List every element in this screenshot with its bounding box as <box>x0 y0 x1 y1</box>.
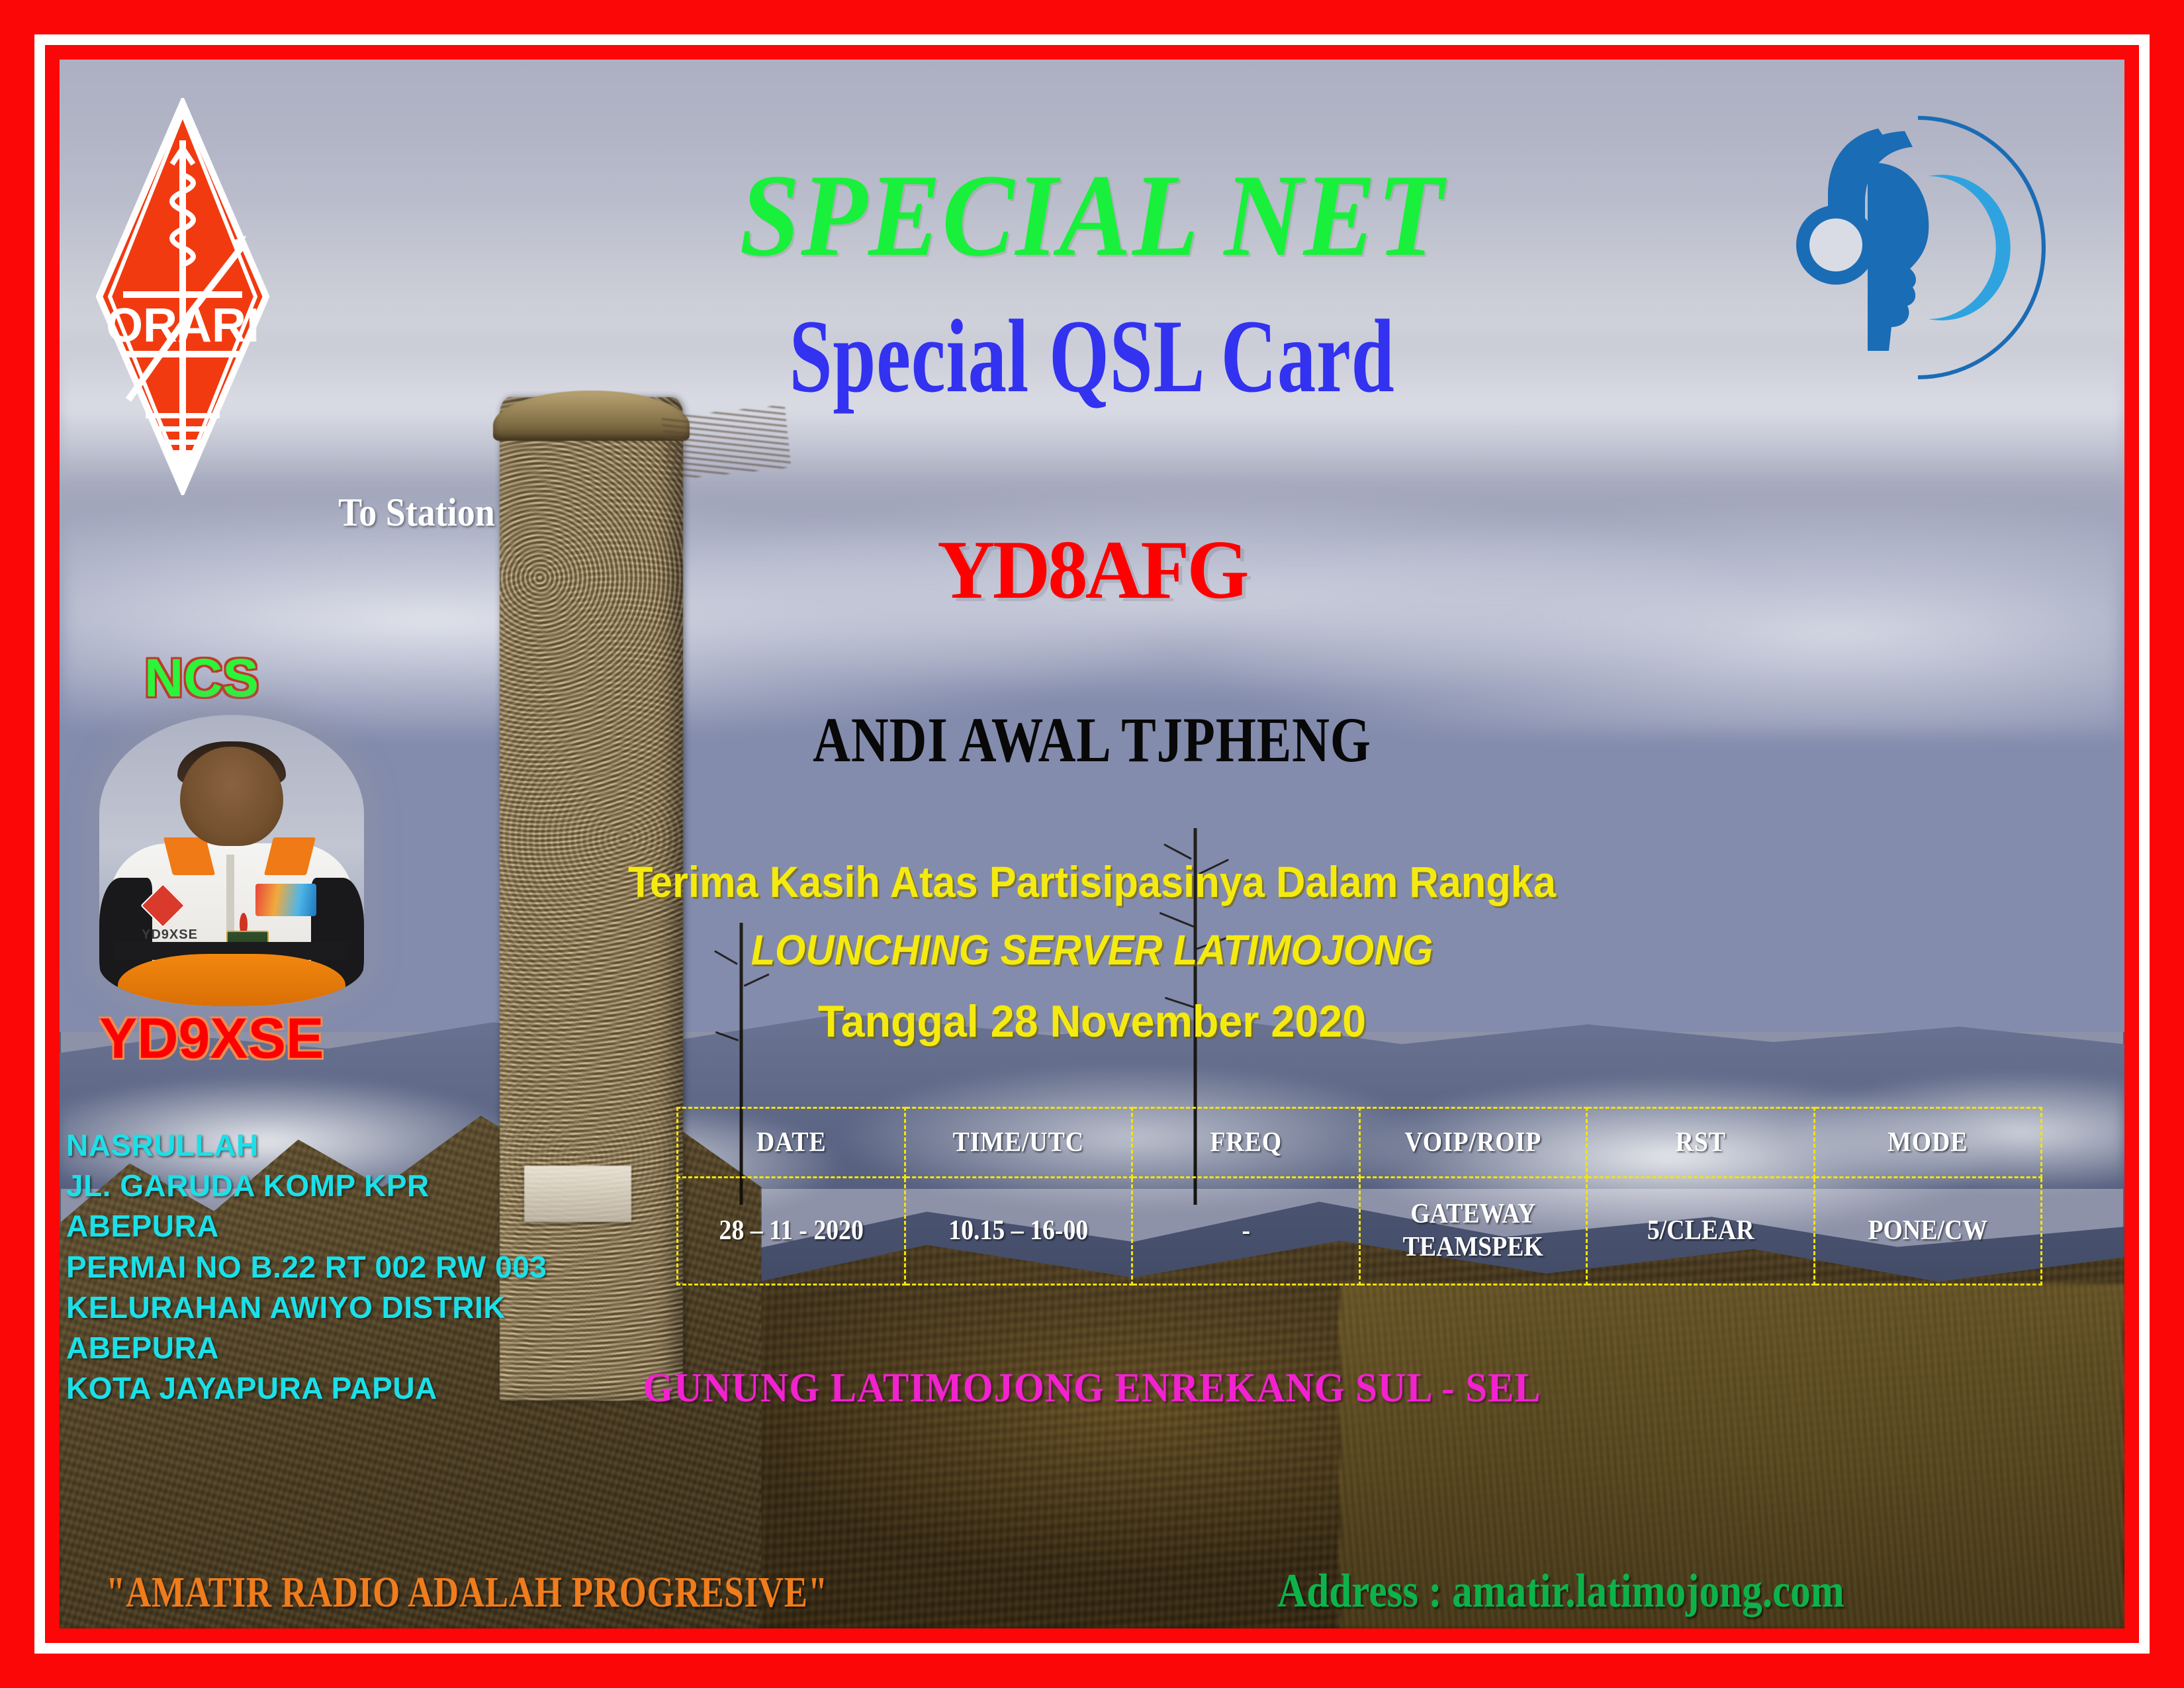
table-header-rst: RST <box>1598 1108 1803 1178</box>
pillar-wisp <box>662 404 792 480</box>
cell-freq: - <box>1144 1178 1348 1285</box>
event-launch-line: LOUNCHING SERVER LATIMOJONG <box>77 925 2108 974</box>
address-line: ABEPURA <box>66 1206 547 1246</box>
cell-voip-roip-line1: GATEWAY <box>1372 1198 1574 1231</box>
cell-voip-roip: GATEWAY TEAMSPEK <box>1371 1178 1575 1285</box>
location-line: GUNUNG LATIMOJONG ENREKANG SUL - SEL <box>55 1365 2130 1412</box>
cell-mode: PONE/CW <box>1825 1178 2030 1285</box>
address-line: JL. GARUDA KOMP KPR <box>66 1166 547 1206</box>
ncs-label: NCS <box>144 647 259 710</box>
page-title-special-net: SPECIAL NET <box>87 156 2097 274</box>
orari-logo-text: ORARI <box>106 299 259 352</box>
event-thanks-line: Terima Kasih Atas Partisipasinya Dalam R… <box>77 857 2108 907</box>
address-line: KELURAHAN AWIYO DISTRIK <box>66 1288 547 1328</box>
table-header-row: DATE TIME/UTC FREQ VOIP/ROIP RST MODE <box>678 1108 2042 1178</box>
station-callsign: YD8AFG <box>44 523 2140 618</box>
cell-voip-roip-line2: TEAMSPEK <box>1372 1231 1574 1264</box>
address-line: ABEPURA <box>66 1328 547 1368</box>
table-header-time-utc: TIME/UTC <box>916 1108 1120 1178</box>
cell-time-utc: 10.15 – 16-00 <box>916 1178 1120 1285</box>
table-header-voip-roip: VOIP/ROIP <box>1371 1108 1575 1178</box>
qso-log-table: DATE TIME/UTC FREQ VOIP/ROIP RST MODE 28… <box>676 1107 2042 1286</box>
address-line: NASRULLAH <box>66 1125 547 1166</box>
footer-address: Address : amatir.latimojong.com <box>1277 1564 1844 1618</box>
cell-rst: 5/CLEAR <box>1598 1178 1803 1285</box>
address-line: PERMAI NO B.22 RT 002 RW 003 <box>66 1247 547 1288</box>
operator-name: ANDI AWAL TJPHENG <box>197 703 1987 776</box>
table-header-date: DATE <box>689 1108 893 1178</box>
event-date-line: Tanggal 28 November 2020 <box>55 996 2130 1047</box>
qsl-card: ORARI SPECIAL NET Special QSL Card To St… <box>0 0 2184 1688</box>
page-subtitle-special-qsl-card: Special QSL Card <box>284 305 1900 409</box>
footer-slogan: "AMATIR RADIO ADALAH PROGRESIVE" <box>106 1568 828 1618</box>
table-header-freq: FREQ <box>1144 1108 1348 1178</box>
table-header-mode: MODE <box>1825 1108 2030 1178</box>
cell-date: 28 – 11 - 2020 <box>689 1178 893 1285</box>
table-row: 28 – 11 - 2020 10.15 – 16-00 - GATEWAY T… <box>678 1178 2042 1285</box>
